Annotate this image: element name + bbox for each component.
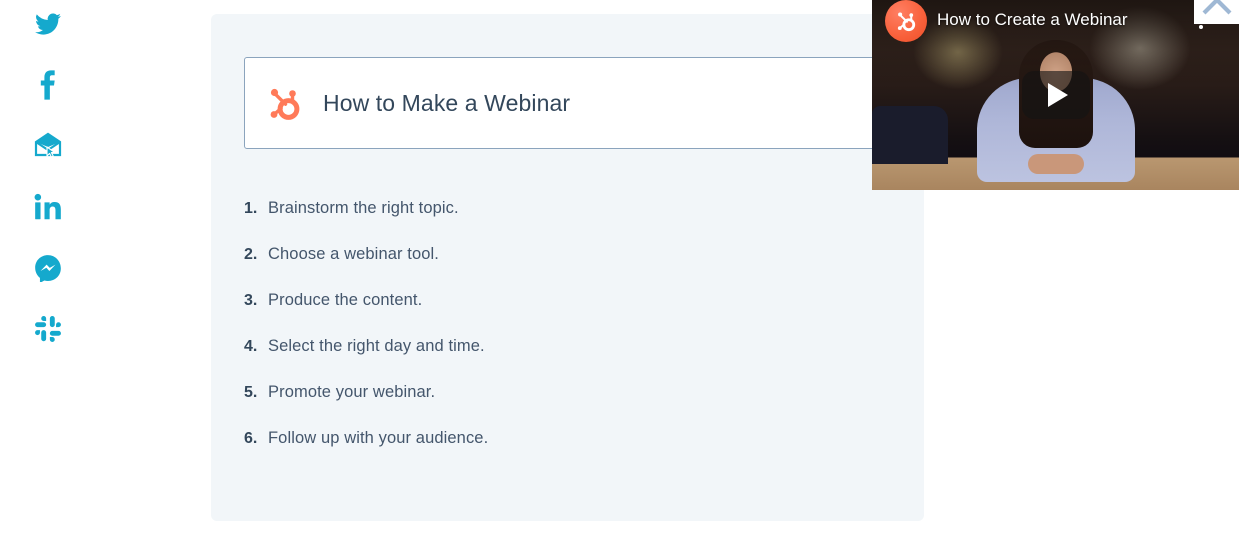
list-item-label: Select the right day and time. [268,337,485,356]
video-title[interactable]: How to Create a Webinar [937,10,1128,30]
list-item-number: 1. [244,200,268,218]
close-video-button[interactable] [1194,0,1239,24]
share-button-twitter[interactable] [26,2,70,46]
share-button-slack[interactable] [26,307,70,351]
list-item: 5. Promote your webinar. [244,383,884,429]
list-item-label: Choose a webinar tool. [268,245,439,264]
social-share-rail [0,0,92,542]
list-item-number: 5. [244,384,268,402]
slack-icon [34,315,62,343]
webinar-steps-list: 1. Brainstorm the right topic. 2. Choose… [244,199,884,475]
linkedin-icon [34,193,62,221]
close-x-icon [1200,0,1234,22]
facebook-icon [39,69,57,101]
list-item-label: Follow up with your audience. [268,429,488,448]
video-player-overlay[interactable]: How to Create a Webinar [872,0,1239,190]
email-icon [33,131,63,159]
list-item-label: Brainstorm the right topic. [268,199,459,218]
share-button-messenger[interactable] [26,246,70,290]
share-button-linkedin[interactable] [26,185,70,229]
list-item: 3. Produce the content. [244,291,884,337]
webinar-title: How to Make a Webinar [323,90,570,117]
list-item-number: 2. [244,246,268,264]
list-item-number: 6. [244,430,268,448]
list-item-number: 3. [244,292,268,310]
hubspot-sprocket-icon [261,80,307,126]
list-item: 2. Choose a webinar tool. [244,245,884,291]
messenger-icon [34,254,62,282]
twitter-icon [33,11,63,37]
play-button-icon[interactable] [1022,71,1090,119]
list-item: 1. Brainstorm the right topic. [244,199,884,245]
hubspot-sprocket-avatar-icon[interactable] [885,0,927,42]
list-item-number: 4. [244,338,268,356]
list-item: 4. Select the right day and time. [244,337,884,383]
kebab-dot [1199,25,1203,29]
list-item: 6. Follow up with your audience. [244,429,884,475]
list-item-label: Promote your webinar. [268,383,435,402]
list-item-label: Produce the content. [268,291,422,310]
play-triangle [1048,83,1068,107]
share-button-facebook[interactable] [26,63,70,107]
share-button-email[interactable] [26,123,70,167]
